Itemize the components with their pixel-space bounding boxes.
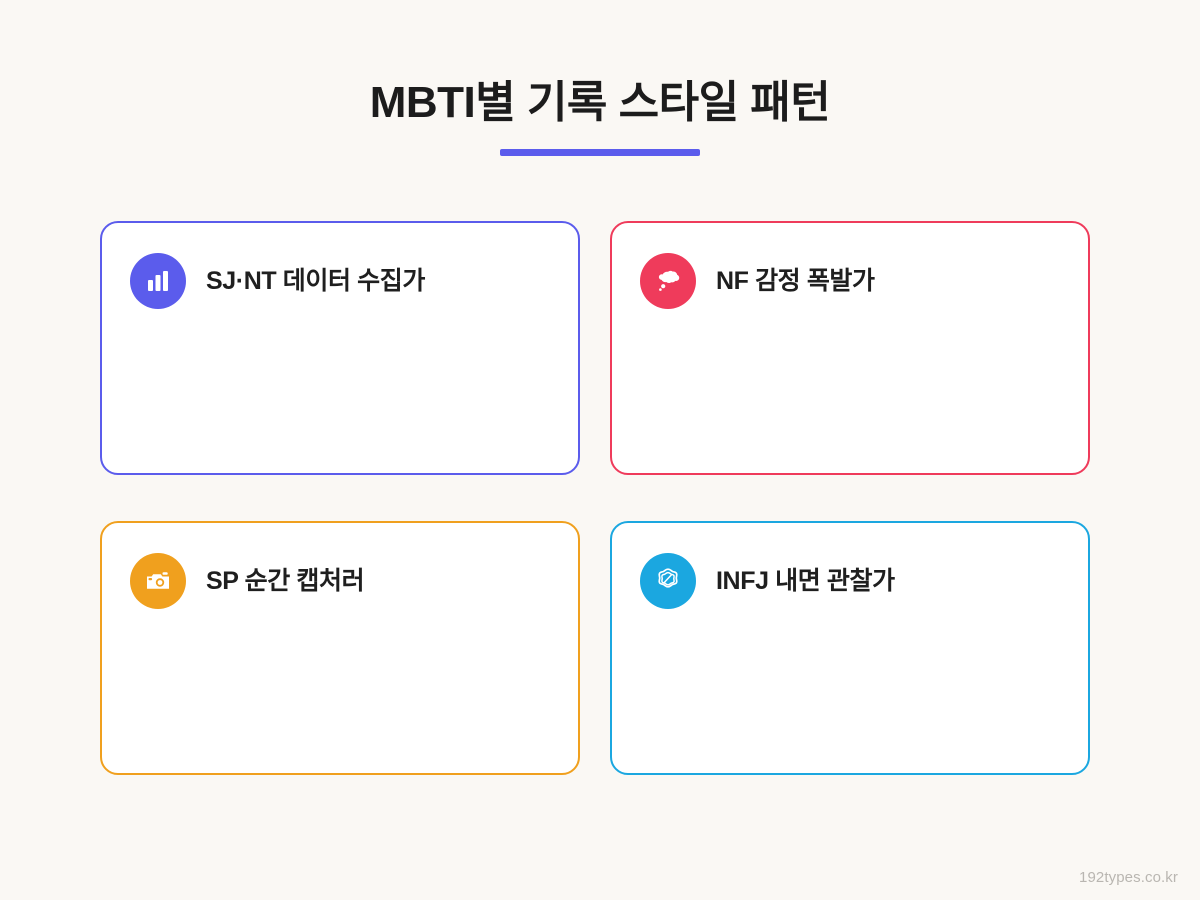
card-infj[interactable]: INFJ 내면 관찰가 xyxy=(610,521,1090,775)
title-accent-bar xyxy=(500,149,700,156)
bar-chart-icon xyxy=(130,253,186,309)
camera-icon xyxy=(130,553,186,609)
site-watermark: 192types.co.kr xyxy=(1079,869,1178,886)
thought-bubble-icon xyxy=(640,253,696,309)
card-header: NF 감정 폭발가 xyxy=(640,253,875,309)
page-title: MBTI별 기록 스타일 패턴 xyxy=(0,78,1200,127)
card-title: SP 순간 캡처러 xyxy=(206,566,364,596)
card-title: SJ·NT 데이터 수집가 xyxy=(206,266,425,296)
card-sp[interactable]: SP 순간 캡처러 xyxy=(100,521,580,775)
gem-mirror-icon xyxy=(640,553,696,609)
card-header: SP 순간 캡처러 xyxy=(130,553,364,609)
slide-root: MBTI별 기록 스타일 패턴 SJ·NT 데이터 수집가 xyxy=(0,0,1200,900)
card-grid: SJ·NT 데이터 수집가 NF 감정 폭발가 xyxy=(100,221,1090,775)
card-header: SJ·NT 데이터 수집가 xyxy=(130,253,425,309)
header: MBTI별 기록 스타일 패턴 xyxy=(0,78,1200,156)
card-title: NF 감정 폭발가 xyxy=(716,266,875,296)
card-header: INFJ 내면 관찰가 xyxy=(640,553,895,609)
card-sj-nt[interactable]: SJ·NT 데이터 수집가 xyxy=(100,221,580,475)
card-nf[interactable]: NF 감정 폭발가 xyxy=(610,221,1090,475)
card-title: INFJ 내면 관찰가 xyxy=(716,566,895,596)
